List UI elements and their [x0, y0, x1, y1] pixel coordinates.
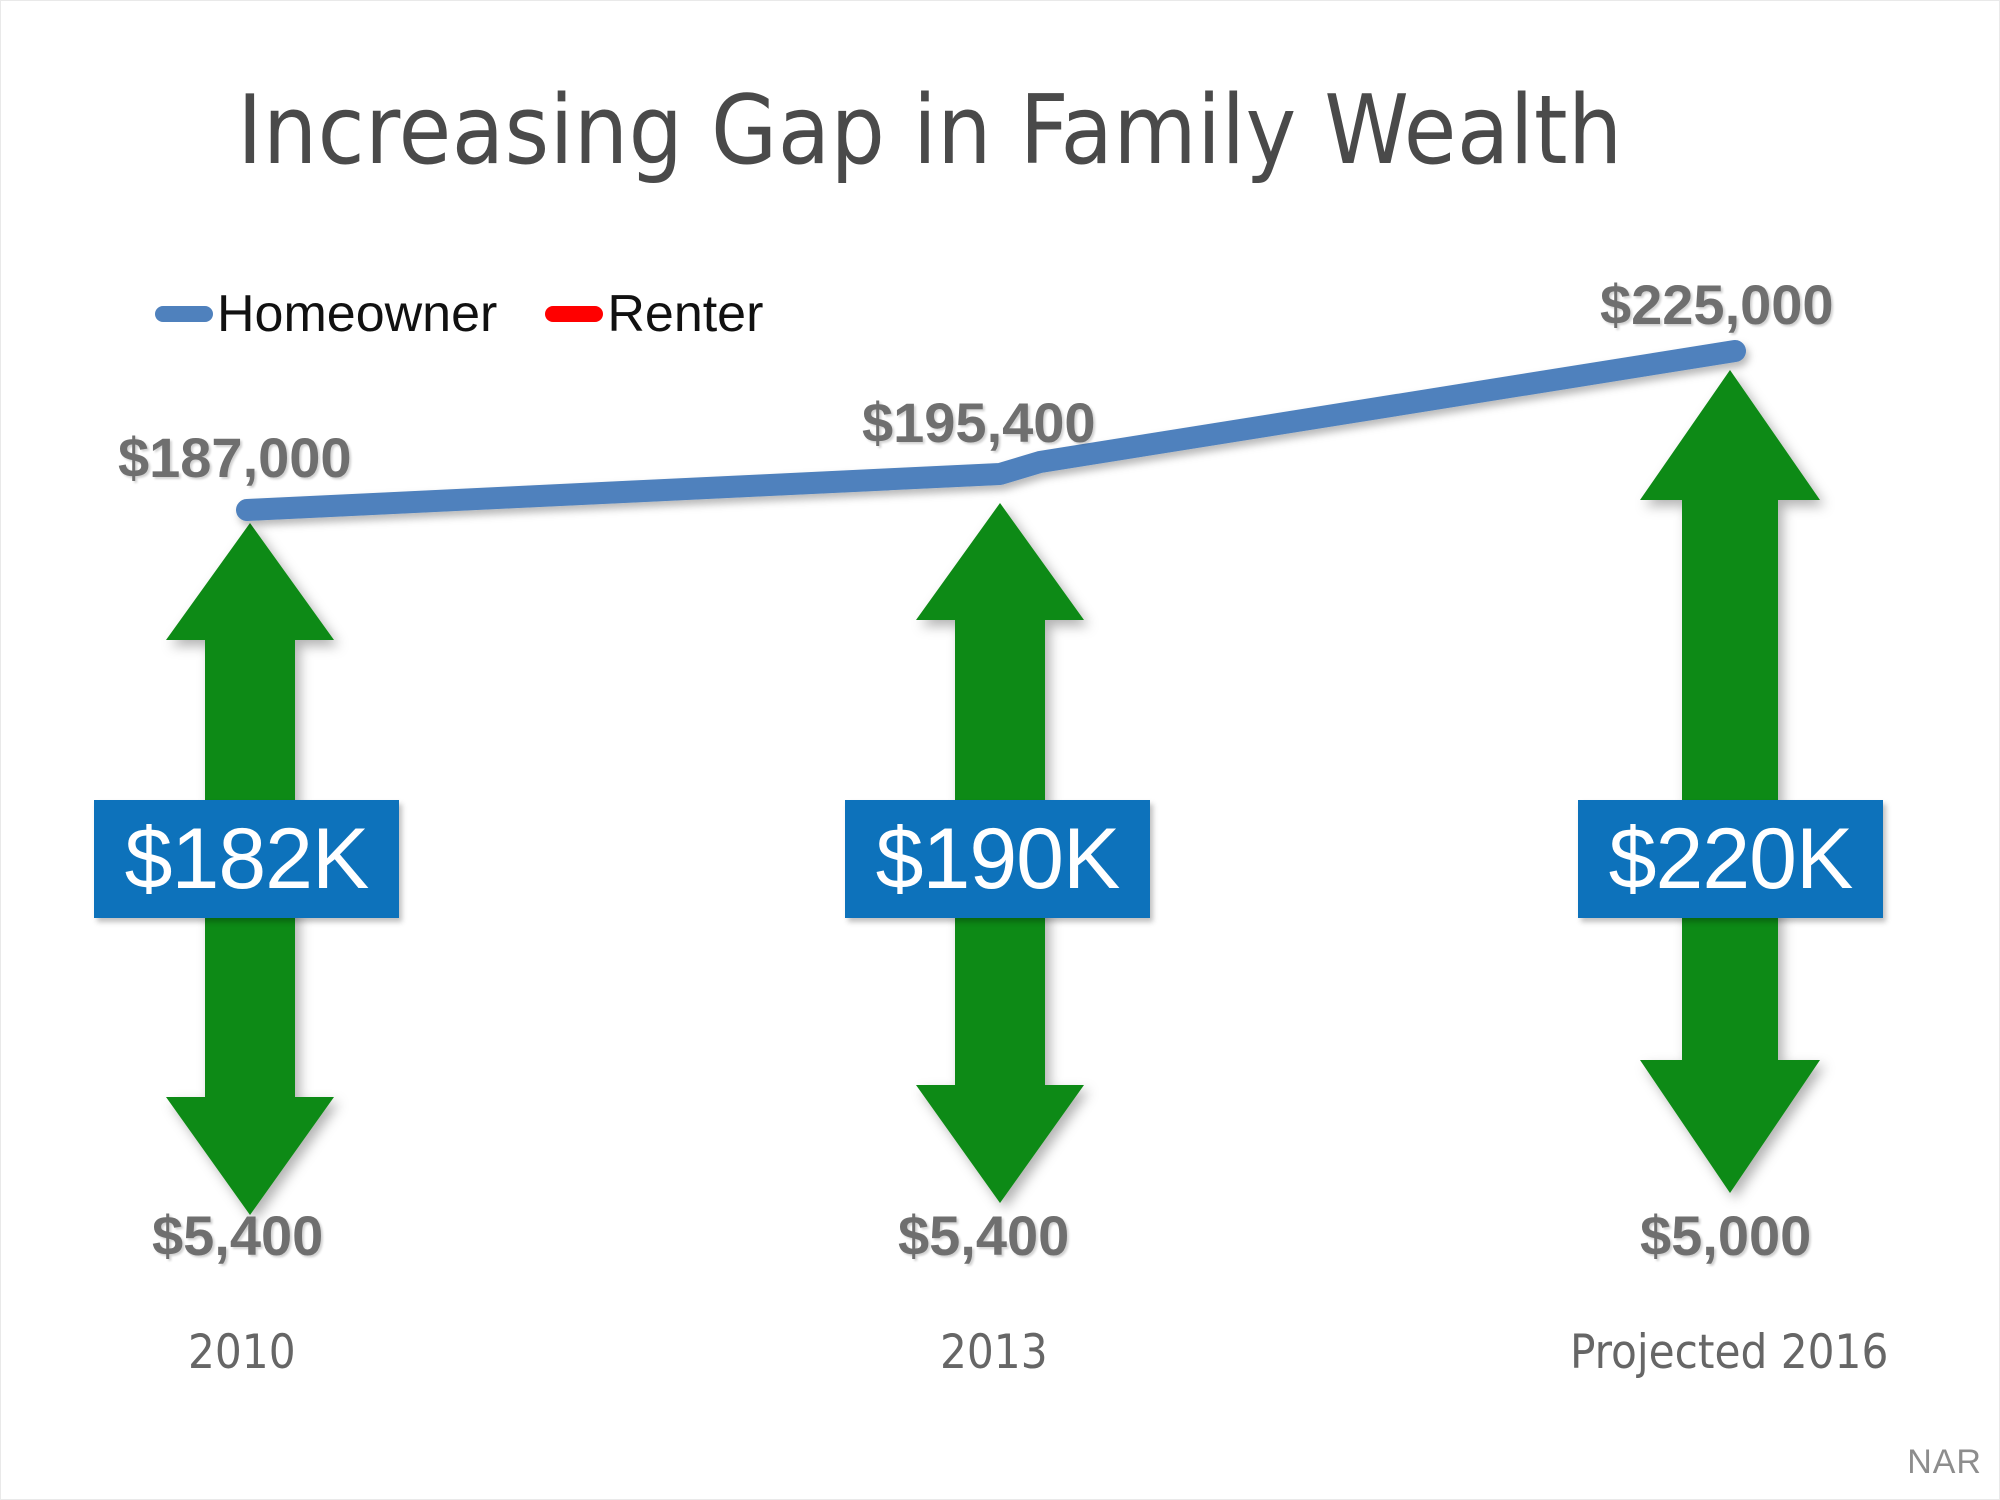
legend-item-homeowner[interactable]: Homeowner [155, 288, 497, 340]
gap-callout-2016: $220K [1578, 800, 1883, 918]
chart-slide: Increasing Gap in Family Wealth Homeowne… [0, 0, 2000, 1500]
data-label-homeowner-2013: $195,400 [862, 390, 1096, 455]
data-label-renter-2013: $5,400 [898, 1203, 1069, 1268]
data-label-renter-2010: $5,400 [152, 1203, 323, 1268]
legend-item-renter[interactable]: Renter [545, 288, 763, 340]
legend-label-renter: Renter [607, 288, 763, 340]
data-label-renter-2016: $5,000 [1640, 1203, 1811, 1268]
data-label-homeowner-2010: $187,000 [118, 425, 352, 490]
axis-label-2010: 2010 [188, 1325, 296, 1380]
axis-label-2013: 2013 [940, 1325, 1048, 1380]
line-swatch-blue-icon [155, 306, 213, 322]
line-swatch-red-icon [545, 306, 603, 322]
gap-callout-2013: $190K [845, 800, 1150, 918]
legend-label-homeowner: Homeowner [217, 288, 497, 340]
data-label-homeowner-2016: $225,000 [1600, 272, 1834, 337]
chart-legend: Homeowner Renter [155, 288, 763, 340]
plot-area [0, 0, 2000, 1500]
gap-arrow-2016 [1640, 370, 1820, 1193]
source-attribution: NAR [1907, 1443, 1982, 1482]
axis-label-projected-2016: Projected 2016 [1570, 1325, 1888, 1380]
page-title: Increasing Gap in Family Wealth [0, 82, 1860, 182]
gap-callout-2010: $182K [94, 800, 399, 918]
